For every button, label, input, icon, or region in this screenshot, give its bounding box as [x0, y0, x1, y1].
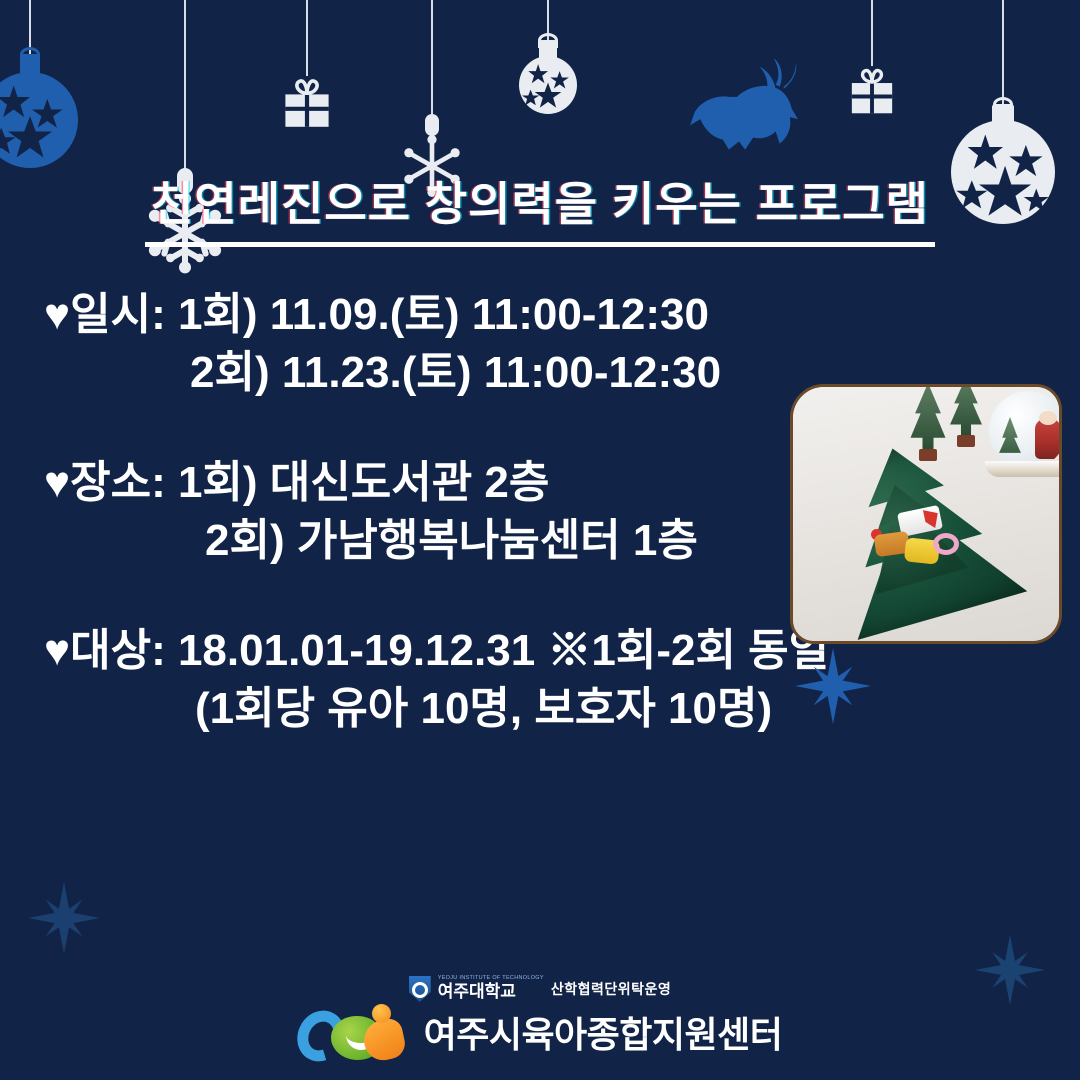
ornament-cap-icon [20, 54, 40, 74]
ball-shape [0, 72, 78, 168]
footer: YEOJU INSTITUTE OF TECHNOLOGY 여주대학교 산학협력… [0, 976, 1080, 1066]
university-row: YEOJU INSTITUTE OF TECHNOLOGY 여주대학교 산학협력… [0, 976, 1080, 1002]
mini-tree-pot [919, 449, 937, 461]
sparkle-star-bottom-left [28, 882, 100, 954]
toy-pink-ring [933, 533, 959, 555]
reindeer-glyph-icon [678, 52, 800, 164]
reindeer-icon [678, 52, 800, 169]
globe-tree-icon [997, 417, 1023, 463]
snow-globe-base [985, 461, 1062, 477]
poster-canvas: 천연레진으로 창의력을 키우는 프로그램 ♥일시: 1회) 11.09.(토) … [0, 0, 1080, 1080]
ornament-ball-white [519, 56, 577, 114]
mini-tree-pot [957, 435, 975, 447]
star-pattern-icon [0, 72, 78, 168]
center-logo-icon [298, 1004, 410, 1066]
university-names: YEOJU INSTITUTE OF TECHNOLOGY 여주대학교 [438, 976, 544, 1002]
page-title: 천연레진으로 창의력을 키우는 프로그램 [145, 168, 935, 247]
gift-glyph-icon [277, 74, 337, 134]
gift-icon [844, 64, 900, 125]
ornament-string [871, 0, 873, 66]
title-container: 천연레진으로 창의력을 키우는 프로그램 [0, 168, 1080, 247]
brand-row: 여주시육아종합지원센터 [0, 1004, 1080, 1066]
detail-target-line-2: (1회당 유아 10명, 보호자 10명) [0, 680, 1080, 738]
gift-glyph-icon [844, 64, 900, 120]
ornament-string [306, 0, 308, 76]
ornament-string [431, 0, 433, 118]
ball-shape [519, 56, 577, 114]
product-photo [790, 384, 1062, 644]
ornament-ball-blue [0, 72, 78, 168]
snow-globe-icon [989, 391, 1062, 469]
star-pattern-icon [519, 56, 577, 114]
gift-icon [277, 74, 337, 139]
center-name: 여주시육아종합지원센터 [424, 1017, 783, 1053]
santa-figure-icon [1035, 419, 1061, 459]
sparkle-star-right [795, 648, 871, 724]
detail-date-line-1: ♥일시: 1회) 11.09.(토) 11:00-12:30 [0, 286, 1080, 344]
university-name-ko: 여주대학교 [438, 982, 516, 1001]
ornament-string [184, 0, 186, 172]
university-note: 산학협력단위탁운영 [551, 979, 671, 999]
shield-icon [409, 976, 431, 1002]
logo-orange-head [372, 1004, 391, 1023]
